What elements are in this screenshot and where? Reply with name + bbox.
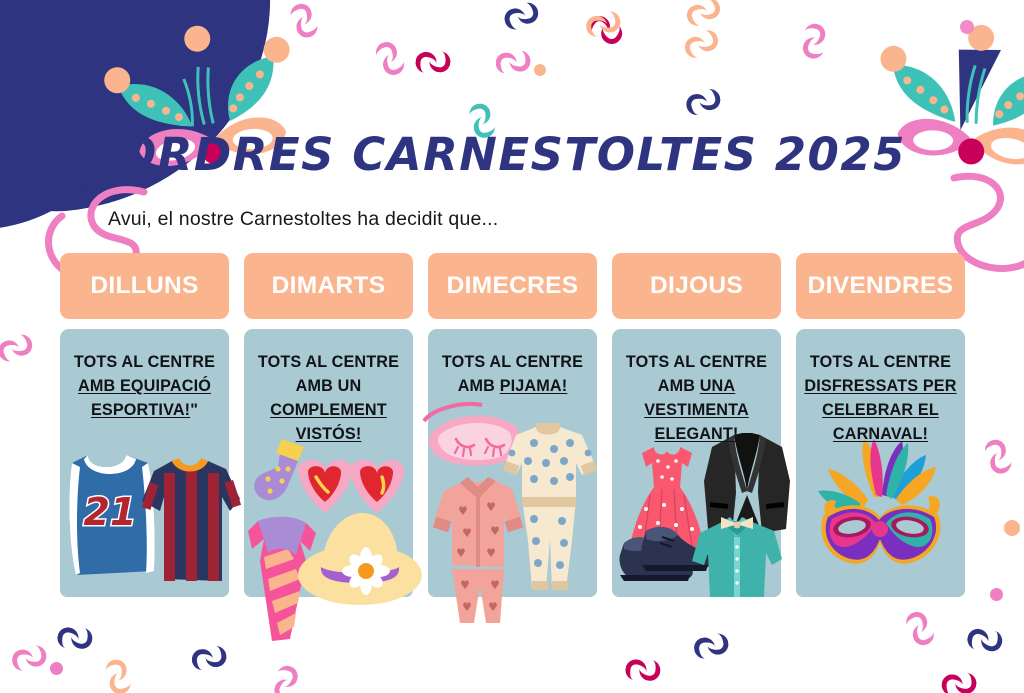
confetti-squiggle [412, 42, 454, 81]
day-instruction-dimecres: TOTS AL CENTRE AMB PIJAMA! [428, 329, 597, 399]
confetti-squiggle [938, 664, 980, 693]
day-column-dimecres: DIMECRES TOTS AL CENTRE AMB PIJAMA! [428, 253, 597, 597]
striped-football-shirt-icon [138, 453, 243, 593]
day-header-dimecres[interactable]: DIMECRES [428, 253, 597, 319]
day-instruction-dijous: TOTS AL CENTRE AMB UNA VESTIMENTA ELEGAN… [612, 329, 781, 447]
confetti-squiggle [288, 3, 317, 40]
confetti-squiggle [982, 438, 1012, 475]
day-card-dilluns: TOTS AL CENTRE AMB EQUIPACIÓ ESPORTIVA!"… [60, 329, 229, 597]
confetti-squiggle [503, 0, 540, 29]
day-card-dijous: TOTS AL CENTRE AMB UNA VESTIMENTA ELEGAN… [612, 329, 781, 597]
page-title: ORDRES CARNESTOLTES 2025 [0, 128, 1024, 181]
day-label: DIMARTS [272, 272, 386, 300]
day-header-divendres[interactable]: DIVENDRES [796, 253, 965, 319]
instruction-underlined: DISFRESSATS PER CELEBRAR EL CARNAVAL! [804, 377, 956, 443]
instruction-plain: TOTS AL CENTRE [810, 353, 951, 371]
teal-shirt-bow-tie-icon [690, 515, 784, 603]
day-grid: DILLUNS TOTS AL CENTRE AMB EQUIPACIÓ ESP… [60, 253, 964, 597]
instruction-plain: TOTS AL CENTRE [74, 353, 215, 371]
confetti-squiggle [492, 43, 533, 80]
confetti-squiggle [792, 20, 833, 63]
confetti-squiggle [9, 640, 48, 673]
confetti-squiggle [684, 29, 719, 56]
confetti-dot [990, 588, 1003, 601]
confetti-dot [1004, 520, 1020, 536]
confetti-squiggle [264, 662, 306, 693]
day-column-dijous: DIJOUS TOTS AL CENTRE AMB UNA VESTIMENTA… [612, 253, 781, 597]
carnival-poster: ORDRES CARNESTOLTES 2025 Avui, el nostre… [0, 0, 1024, 693]
heart-print-pyjamas-icon [430, 473, 526, 633]
confetti-squiggle [964, 618, 1007, 659]
subtitle: Avui, el nostre Carnestoltes ha decidit … [108, 208, 498, 231]
day-header-dilluns[interactable]: DILLUNS [60, 253, 229, 319]
confetti-squiggle [0, 332, 33, 361]
confetti-squiggle [684, 85, 722, 117]
instruction-trailing: " [190, 401, 198, 419]
day-label: DIJOUS [650, 272, 743, 300]
confetti-dot [50, 662, 63, 675]
day-label: DIMECRES [447, 272, 579, 300]
day-instruction-dilluns: TOTS AL CENTRE AMB EQUIPACIÓ ESPORTIVA!" [60, 329, 229, 423]
day-column-divendres: DIVENDRES TOTS AL CENTRE DISFRESSATS PER… [796, 253, 965, 597]
day-header-dijous[interactable]: DIJOUS [612, 253, 781, 319]
instruction-underlined: PIJAMA! [500, 377, 568, 395]
instruction-plain: TOTS AL CENTRE AMB [626, 353, 767, 395]
day-card-dimarts: TOTS AL CENTRE AMB UN COMPLEMENT VISTÓS! [244, 329, 413, 597]
confetti-squiggle [376, 42, 402, 76]
feathered-carnival-mask-icon [802, 437, 962, 587]
day-header-dimarts[interactable]: DIMARTS [244, 253, 413, 319]
confetti-squiggle [584, 7, 623, 40]
sun-hat-with-flower-icon [296, 501, 424, 611]
instruction-underlined: COMPLEMENT VISTÓS! [270, 401, 387, 443]
confetti-squiggle [691, 628, 730, 661]
confetti-squiggle [100, 657, 133, 693]
day-card-dimecres: TOTS AL CENTRE AMB PIJAMA! [428, 329, 597, 597]
day-column-dilluns: DILLUNS TOTS AL CENTRE AMB EQUIPACIÓ ESP… [60, 253, 229, 597]
day-instruction-dimarts: TOTS AL CENTRE AMB UN COMPLEMENT VISTÓS! [244, 329, 413, 447]
day-card-divendres: TOTS AL CENTRE DISFRESSATS PER CELEBRAR … [796, 329, 965, 597]
day-column-dimarts: DIMARTS TOTS AL CENTRE AMB UN COMPLEMENT… [244, 253, 413, 597]
confetti-squiggle [622, 649, 665, 689]
day-label: DILLUNS [90, 272, 198, 300]
confetti-squiggle [686, 0, 721, 25]
day-instruction-divendres: TOTS AL CENTRE DISFRESSATS PER CELEBRAR … [796, 329, 965, 447]
svg-text:21: 21 [84, 490, 137, 534]
confetti-dot [534, 64, 546, 76]
instruction-plain: TOTS AL CENTRE AMB UN [258, 353, 399, 395]
confetti-squiggle [189, 639, 229, 674]
day-label: DIVENDRES [808, 272, 954, 300]
confetti-dot [960, 20, 974, 34]
